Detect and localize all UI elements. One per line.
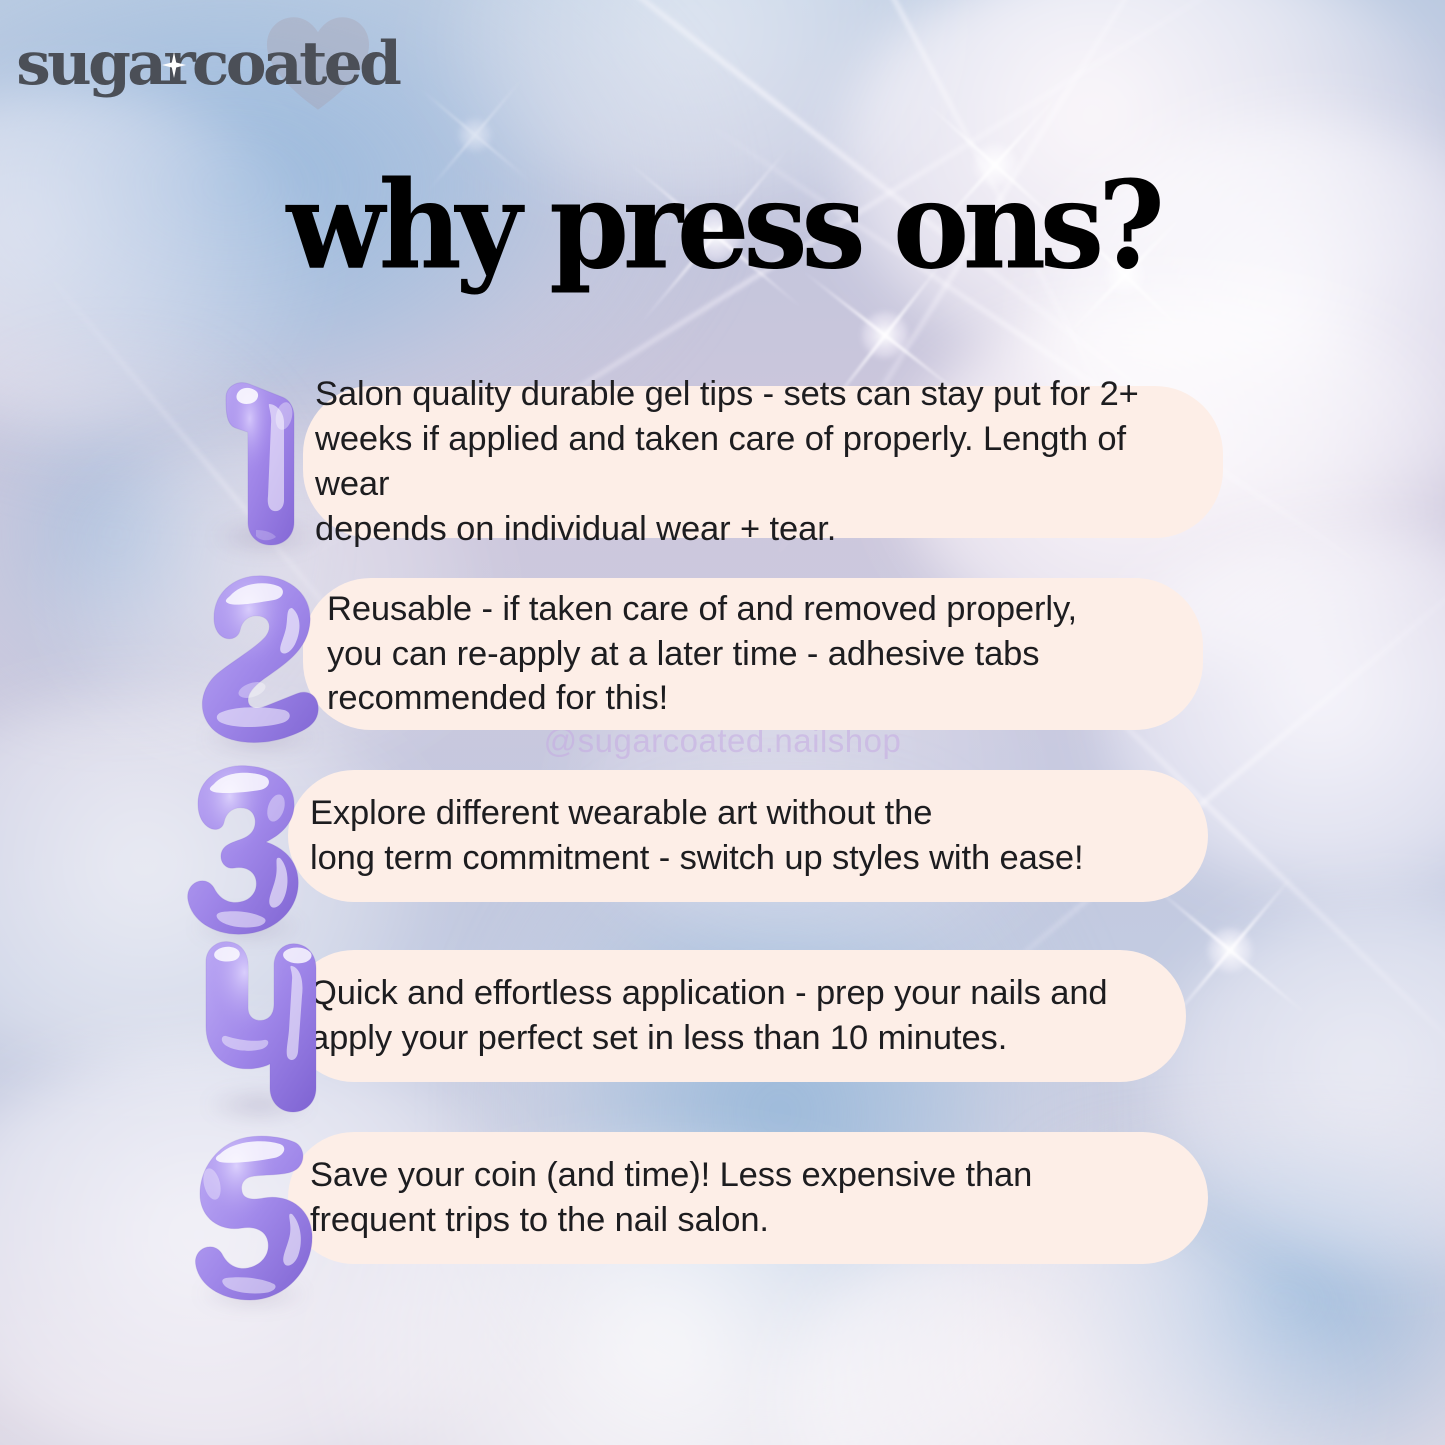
reason-text: Save your coin (and time)! Less expensiv… — [310, 1153, 1032, 1243]
reason-text: Reusable - if taken care of and removed … — [327, 587, 1077, 722]
reason-card: Explore different wearable art without t… — [288, 770, 1208, 902]
reason-card: Reusable - if taken care of and removed … — [303, 578, 1203, 730]
reason-card: Save your coin (and time)! Less expensiv… — [288, 1132, 1208, 1264]
reason-text: Salon quality durable gel tips - sets ca… — [313, 372, 1189, 551]
reason-card: Salon quality durable gel tips - sets ca… — [303, 386, 1223, 538]
reasons-list: Salon quality durable gel tips - sets ca… — [0, 0, 1445, 1445]
poster-canvas: sugarcoated NAIL SHOP why press ons? @su… — [0, 0, 1445, 1445]
reason-text: Explore different wearable art without t… — [310, 791, 1083, 881]
reason-text: Quick and effortless application - prep … — [310, 971, 1108, 1061]
reason-card: Quick and effortless application - prep … — [288, 950, 1186, 1082]
